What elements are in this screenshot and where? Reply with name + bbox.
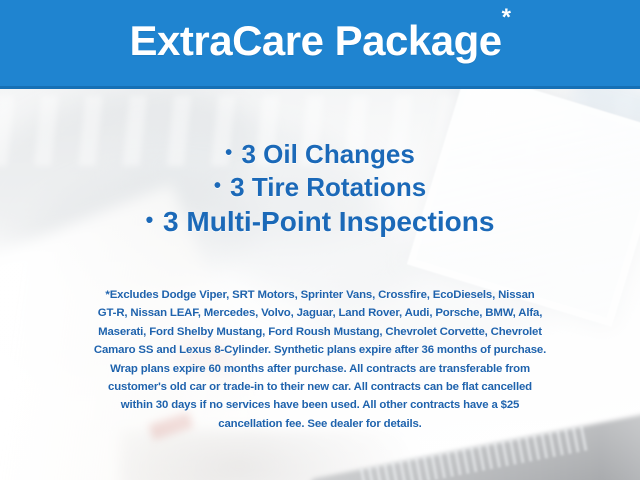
benefits-list: • 3 Oil Changes • 3 Tire Rotations • 3 M… [0, 138, 640, 239]
disclaimer-line: Wrap plans expire 60 months after purcha… [24, 360, 616, 378]
header-banner: ExtraCare Package* [0, 0, 640, 89]
disclaimer-text: *Excludes Dodge Viper, SRT Motors, Sprin… [24, 286, 616, 433]
extracare-package-ad: ExtraCare Package* • 3 Oil Changes • 3 T… [0, 0, 640, 480]
list-item: • 3 Multi-Point Inspections [0, 204, 640, 239]
bullet-icon: • [146, 207, 156, 232]
list-item-label: 3 Multi-Point Inspections [163, 206, 494, 237]
disclaimer-line: customer's old car or trade-in to their … [24, 378, 616, 396]
list-item-label: 3 Tire Rotations [230, 172, 426, 202]
list-item-label: 3 Oil Changes [241, 139, 414, 169]
list-item: • 3 Tire Rotations [0, 171, 640, 204]
bullet-icon: • [225, 142, 234, 164]
disclaimer-line: Camaro SS and Lexus 8-Cylinder. Syntheti… [24, 341, 616, 359]
disclaimer-line: GT-R, Nissan LEAF, Mercedes, Volvo, Jagu… [24, 304, 616, 322]
disclaimer-line: cancellation fee. See dealer for details… [24, 415, 616, 433]
page-title: ExtraCare Package* [130, 20, 511, 66]
list-item: • 3 Oil Changes [0, 138, 640, 171]
disclaimer-line: *Excludes Dodge Viper, SRT Motors, Sprin… [24, 286, 616, 304]
page-title-text: ExtraCare Package [130, 17, 502, 64]
disclaimer-line: Maserati, Ford Shelby Mustang, Ford Rous… [24, 323, 616, 341]
disclaimer-asterisk: * [502, 4, 511, 31]
disclaimer-line: within 30 days if no services have been … [24, 396, 616, 414]
bullet-icon: • [214, 175, 223, 197]
